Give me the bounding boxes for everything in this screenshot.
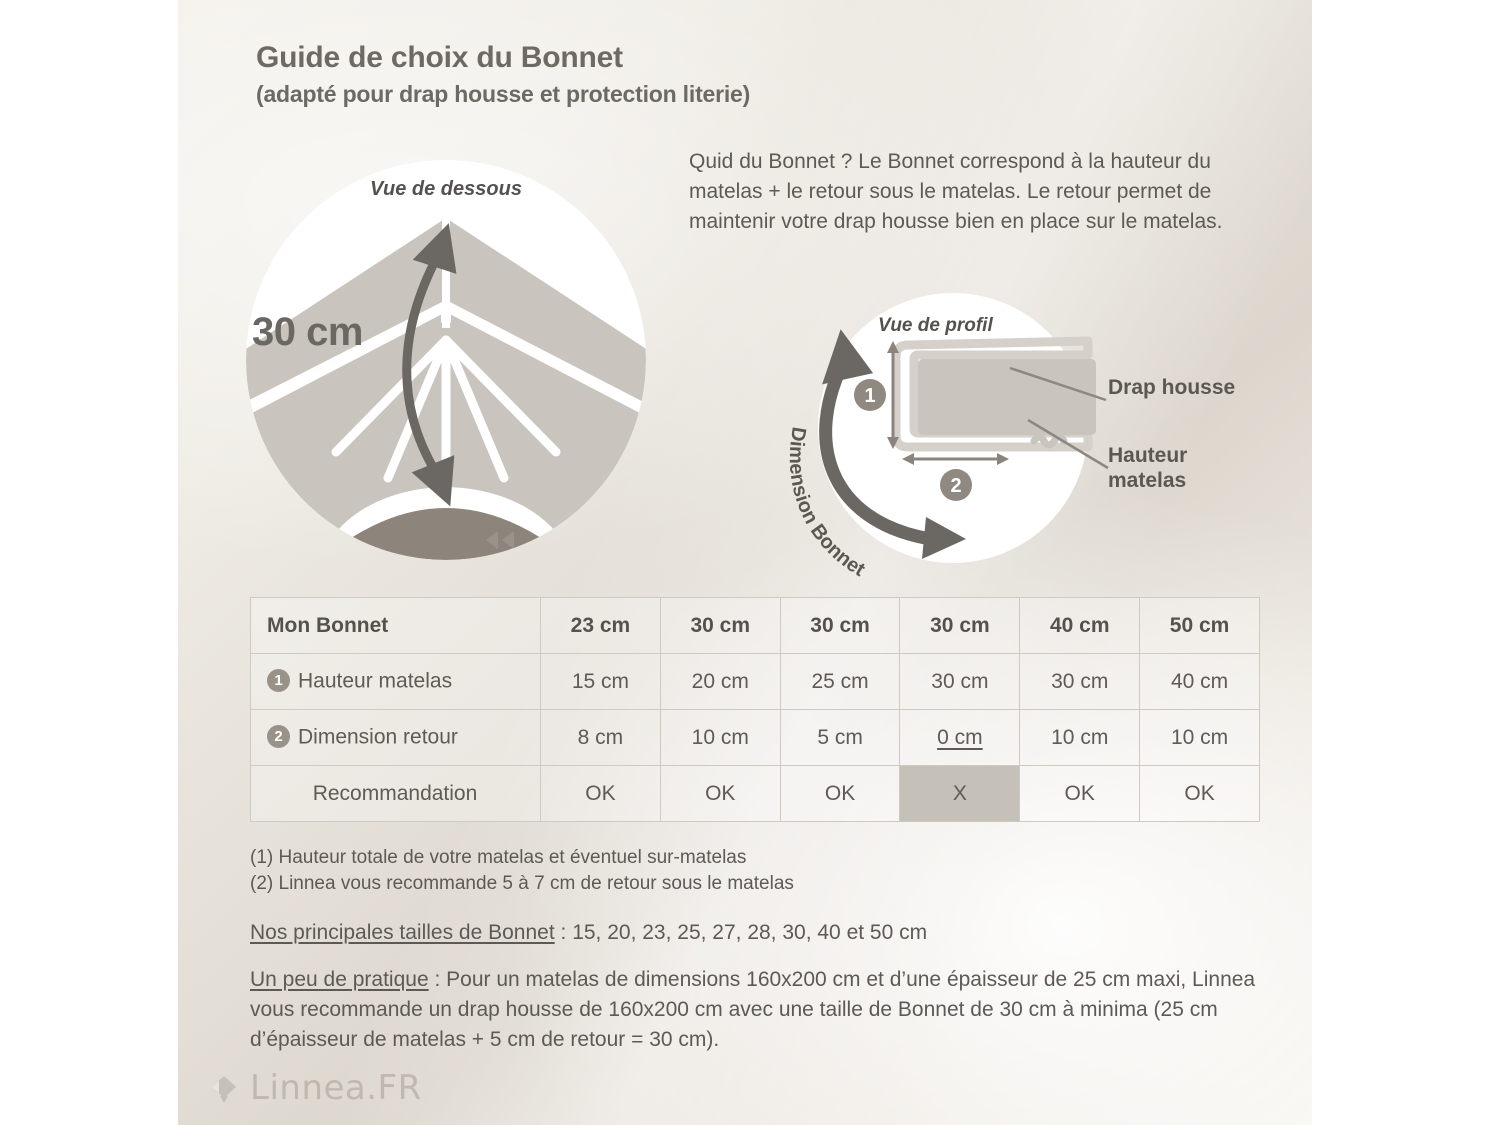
table-rowlabel-return: 2Dimension retour	[251, 710, 541, 766]
badge-1: 1	[267, 669, 290, 692]
profile-callouts: Drap housse Hauteur matelas	[1108, 375, 1312, 494]
cell-return-3: 0 cm	[900, 710, 1020, 766]
cell-height-2: 25 cm	[780, 654, 900, 710]
table-col-4: 40 cm	[1020, 598, 1140, 654]
cell-reco-3: X	[900, 766, 1020, 822]
callout-drap-housse: Drap housse	[1108, 375, 1312, 401]
bottom-view-illustration	[246, 160, 646, 560]
table-col-2: 30 cm	[780, 598, 900, 654]
logo-text: Linnea.FR	[250, 1068, 422, 1108]
cell-return-1: 10 cm	[660, 710, 780, 766]
diagram-bottom-view: Vue de dessous 30 cm	[246, 160, 646, 560]
footnotes: (1) Hauteur totale de votre matelas et é…	[250, 845, 1270, 948]
sizes-line: Nos principales tailles de Bonnet : 15, …	[250, 918, 1270, 947]
table-row-mattress-height: 1Hauteur matelas 15 cm 20 cm 25 cm 30 cm…	[251, 654, 1260, 710]
table-header-label: Mon Bonnet	[251, 598, 541, 654]
footnote-1: (1) Hauteur totale de votre matelas et é…	[250, 845, 1270, 871]
sizes-value: : 15, 20, 23, 25, 27, 28, 30, 40 et 50 c…	[555, 921, 927, 944]
callout-hauteur-line2: matelas	[1108, 468, 1312, 494]
table-rowlabel-reco: Recommandation	[251, 766, 541, 822]
cell-height-4: 30 cm	[1020, 654, 1140, 710]
brand-logo[interactable]: Linnea.FR	[208, 1068, 422, 1108]
cell-height-3: 30 cm	[900, 654, 1020, 710]
diamond-logo-icon	[208, 1072, 240, 1104]
table-col-5: 50 cm	[1140, 598, 1260, 654]
title-subtitle: (adapté pour drap housse et protection l…	[256, 80, 956, 110]
cell-reco-2: OK	[780, 766, 900, 822]
table-row-header: Mon Bonnet 23 cm 30 cm 30 cm 30 cm 40 cm…	[251, 598, 1260, 654]
cell-height-5: 40 cm	[1140, 654, 1260, 710]
svg-text:Dimension Bonnet: Dimension Bonnet	[785, 425, 869, 581]
cell-reco-1: OK	[660, 766, 780, 822]
arc-label-text: Dimension Bonnet	[785, 425, 869, 581]
table-row-return: 2Dimension retour 8 cm 10 cm 5 cm 0 cm 1…	[251, 710, 1260, 766]
table-col-0: 23 cm	[541, 598, 661, 654]
cell-return-0: 8 cm	[541, 710, 661, 766]
callout-hauteur-line1: Hauteur	[1108, 443, 1312, 469]
cell-reco-4: OK	[1020, 766, 1140, 822]
table-col-3: 30 cm	[900, 598, 1020, 654]
rowlabel-return-text: Dimension retour	[298, 726, 458, 749]
callout-leader-lines	[1008, 360, 1138, 490]
page-title: Guide de choix du Bonnet (adapté pour dr…	[256, 40, 956, 109]
callout-hauteur-matelas: Hauteur matelas	[1108, 443, 1312, 494]
cell-reco-0: OK	[541, 766, 661, 822]
rowlabel-height-text: Hauteur matelas	[298, 670, 452, 693]
dimension-bonnet-arc-label: Dimension Bonnet	[778, 400, 1008, 600]
intro-paragraph: Quid du Bonnet ? Le Bonnet correspond à …	[689, 147, 1269, 236]
cell-return-3-text: 0 cm	[937, 726, 983, 749]
cell-height-1: 20 cm	[660, 654, 780, 710]
cell-return-2: 5 cm	[780, 710, 900, 766]
cell-return-5: 10 cm	[1140, 710, 1260, 766]
badge-2: 2	[267, 725, 290, 748]
table-col-1: 30 cm	[660, 598, 780, 654]
title-main: Guide de choix du Bonnet	[256, 40, 956, 77]
sizes-label: Nos principales tailles de Bonnet	[250, 921, 555, 944]
cell-return-4: 10 cm	[1020, 710, 1140, 766]
table-row-recommendation: Recommandation OK OK OK X OK OK	[251, 766, 1260, 822]
table-rowlabel-height: 1Hauteur matelas	[251, 654, 541, 710]
artwork-area: Guide de choix du Bonnet (adapté pour dr…	[178, 0, 1312, 1125]
notes-spacer	[250, 896, 1270, 918]
cell-height-0: 15 cm	[541, 654, 661, 710]
cell-reco-5: OK	[1140, 766, 1260, 822]
bottom-view-disc: Vue de dessous 30 cm	[246, 160, 646, 560]
bonnet-table: Mon Bonnet 23 cm 30 cm 30 cm 30 cm 40 cm…	[250, 597, 1260, 822]
infographic-canvas: Guide de choix du Bonnet (adapté pour dr…	[0, 0, 1500, 1125]
profile-view-label: Vue de profil	[878, 315, 993, 337]
bonnet-size-table: Mon Bonnet 23 cm 30 cm 30 cm 30 cm 40 cm…	[250, 597, 1260, 822]
practice-label: Un peu de pratique	[250, 968, 429, 991]
practice-paragraph: Un peu de pratique : Pour un matelas de …	[250, 965, 1280, 1054]
bottom-view-label: Vue de dessous	[246, 178, 646, 201]
bottom-view-dimension: 30 cm	[252, 310, 363, 355]
footnote-2: (2) Linnea vous recommande 5 à 7 cm de r…	[250, 871, 1270, 897]
